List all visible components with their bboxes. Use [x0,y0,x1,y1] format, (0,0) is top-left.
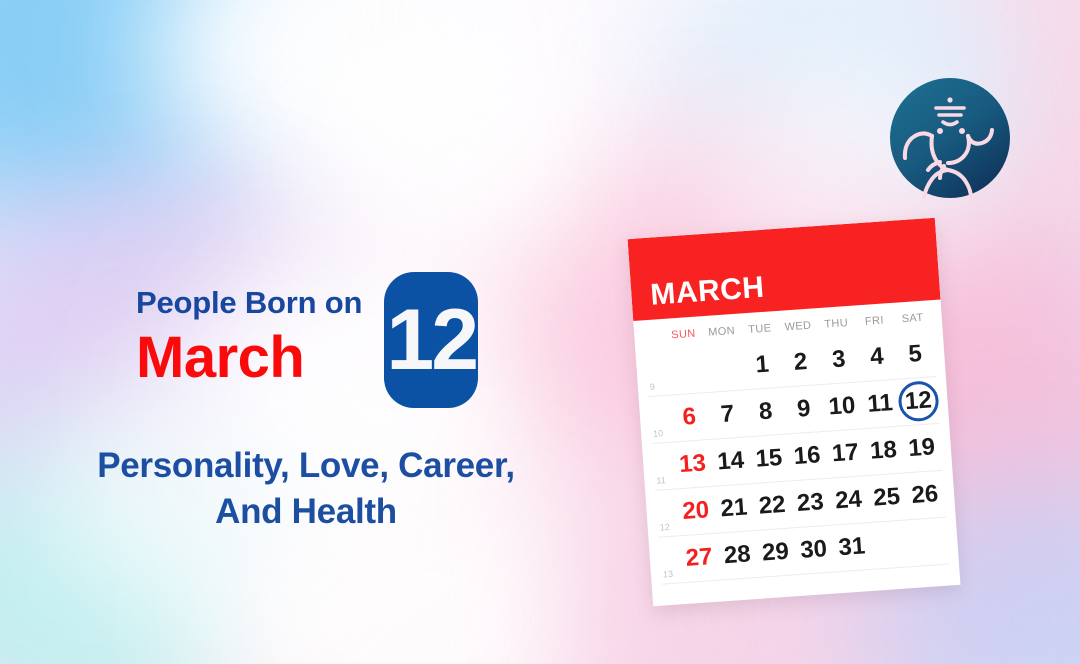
day-number-badge: 12 [384,272,478,408]
title-words: People Born on March [136,287,362,392]
calendar-day[interactable]: 7 [707,399,747,430]
calendar-day[interactable]: 15 [749,444,789,475]
calendar-day[interactable]: 9 [784,394,824,425]
weekday-wed: WED [779,319,818,334]
calendar-day-label: 12 [904,386,933,415]
calendar-day[interactable]: 21 [714,493,754,524]
calendar-card: MARCH SUN MON TUE WED THU FRI SAT 9 1234… [628,218,961,607]
calendar-day[interactable]: 28 [717,540,757,571]
subtitle-line-1: Personality, Love, Career, [0,443,612,489]
weekday-sun: SUN [664,327,703,342]
calendar-week-number: 12 [657,521,678,536]
calendar-day[interactable]: 18 [863,436,903,467]
calendar-day[interactable]: 14 [711,446,751,477]
calendar-day[interactable]: 22 [752,490,792,521]
calendar-day[interactable]: 13 [672,449,712,480]
calendar-day[interactable]: 6 [669,402,709,433]
subtitle: Personality, Love, Career, And Health [0,443,612,535]
calendar-day[interactable]: 4 [857,342,897,373]
calendar-week-number: 10 [651,428,672,443]
weekday-thu: THU [817,317,856,332]
banner-root: People Born on March 12 Personality, Lov… [0,0,1080,664]
title-prefix: People Born on [136,287,362,320]
calendar-day[interactable]: 29 [755,537,795,568]
calendar-day[interactable]: 25 [867,482,907,513]
calendar-week-number: 13 [661,568,682,583]
calendar-week-number: 11 [654,475,675,490]
calendar-day [908,527,948,558]
weekday-tue: TUE [740,322,779,337]
weekday-sat: SAT [893,311,932,326]
calendar-day [870,529,910,560]
calendar-day[interactable]: 24 [829,485,869,516]
calendar-day[interactable]: 30 [794,535,834,566]
calendar-day[interactable]: 1 [742,350,782,381]
calendar-day[interactable]: 8 [746,397,786,428]
calendar-day[interactable]: 10 [822,391,862,422]
weekday-mon: MON [702,325,741,340]
calendar-body: SUN MON TUE WED THU FRI SAT 9 1234510678… [633,300,959,586]
calendar-day[interactable]: 3 [819,344,859,375]
subtitle-line-2: And Health [0,489,612,535]
calendar-week-number: 9 [648,381,669,396]
calendar-day[interactable]: 17 [825,438,865,469]
headline-block: People Born on March 12 Personality, Lov… [0,262,612,535]
day-number-badge-label: 12 [386,297,476,383]
calendar-weeks: 9 12345106789101112111314151617181912202… [645,330,949,585]
calendar-month-label: MARCH [649,271,765,313]
calendar-day[interactable]: 27 [679,543,719,574]
title-row: People Born on March 12 [0,262,612,417]
ganesha-logo-icon [888,76,1012,200]
calendar-day [666,355,706,386]
bokeh-blob [330,40,590,270]
calendar-day[interactable]: 23 [790,488,830,519]
calendar-day[interactable]: 11 [860,389,900,420]
weekday-fri: FRI [855,314,894,329]
title-month: March [136,325,362,392]
calendar-day[interactable]: 20 [676,496,716,527]
calendar-day[interactable]: 2 [780,347,820,378]
calendar-day[interactable]: 5 [895,339,935,370]
calendar-day [704,352,744,383]
calendar-day[interactable]: 26 [905,480,945,511]
calendar-day[interactable]: 16 [787,441,827,472]
calendar-day[interactable]: 19 [902,433,942,464]
calendar-day-highlighted[interactable]: 12 [898,386,938,417]
calendar-day[interactable]: 31 [832,532,872,563]
